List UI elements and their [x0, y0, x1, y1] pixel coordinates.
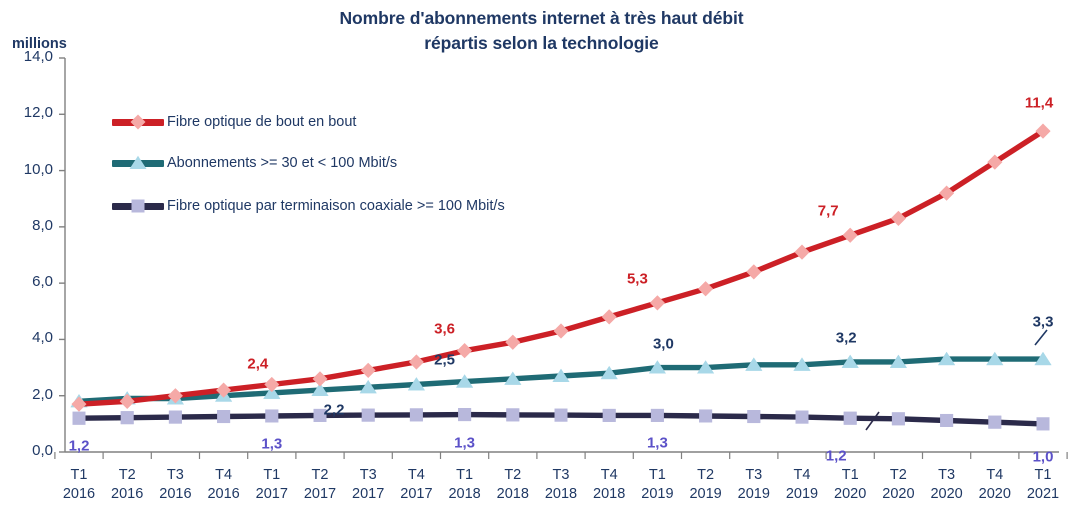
- data-point-marker: [217, 410, 230, 423]
- data-point-marker: [121, 411, 134, 424]
- data-point-marker: [843, 228, 858, 243]
- data-label: 2,4: [247, 356, 268, 373]
- data-point-marker: [602, 309, 617, 324]
- x-tick-quarter: T3: [342, 466, 394, 485]
- legend-item-1[interactable]: Fibre optique de bout en bout: [112, 114, 356, 130]
- x-axis-tick-label: T12021: [1017, 466, 1069, 504]
- data-point-marker: [603, 409, 616, 422]
- data-point-marker: [651, 409, 664, 422]
- legend-marker-diamond-icon: [128, 112, 148, 132]
- data-point-marker: [1037, 417, 1050, 430]
- x-tick-quarter: T2: [680, 466, 732, 485]
- x-tick-quarter: T3: [921, 466, 973, 485]
- x-tick-quarter: T3: [535, 466, 587, 485]
- data-point-marker: [746, 264, 761, 279]
- data-label: 3,0: [653, 335, 674, 352]
- data-label: 5,3: [627, 270, 648, 287]
- legend-item-2[interactable]: Abonnements >= 30 et < 100 Mbit/s: [112, 155, 397, 171]
- data-point-marker: [458, 408, 471, 421]
- x-tick-year: 2016: [149, 485, 201, 504]
- y-axis-tick-label: 0,0: [3, 442, 53, 459]
- x-axis-tick-label: T32020: [921, 466, 973, 504]
- x-axis-tick-label: T12017: [246, 466, 298, 504]
- y-axis-tick-label: 4,0: [3, 329, 53, 346]
- data-point-marker: [361, 363, 376, 378]
- leader-line: [1035, 330, 1047, 345]
- x-axis-tick-label: T42018: [583, 466, 635, 504]
- x-tick-quarter: T2: [487, 466, 539, 485]
- x-axis-tick-label: T12020: [824, 466, 876, 504]
- y-axis-tick-label: 14,0: [3, 48, 53, 65]
- x-axis-tick-label: T12019: [631, 466, 683, 504]
- x-axis-tick-label: T42019: [776, 466, 828, 504]
- x-tick-year: 2020: [969, 485, 1021, 504]
- legend-marker-square-icon: [128, 196, 148, 216]
- data-label: 1,3: [261, 435, 282, 452]
- x-tick-year: 2016: [53, 485, 105, 504]
- x-tick-quarter: T4: [583, 466, 635, 485]
- x-axis-tick-label: T42020: [969, 466, 1021, 504]
- x-tick-quarter: T4: [198, 466, 250, 485]
- x-tick-year: 2018: [487, 485, 539, 504]
- data-label: 1,0: [1033, 448, 1054, 465]
- x-tick-year: 2019: [776, 485, 828, 504]
- chart-container: Nombre d'abonnements internet à très hau…: [0, 0, 1083, 514]
- data-label: 1,2: [826, 448, 847, 465]
- x-tick-year: 2018: [535, 485, 587, 504]
- data-label: 2,5: [434, 351, 455, 368]
- x-tick-year: 2017: [390, 485, 442, 504]
- x-tick-quarter: T2: [101, 466, 153, 485]
- x-tick-year: 2016: [198, 485, 250, 504]
- data-point-marker: [362, 409, 375, 422]
- x-tick-quarter: T1: [1017, 466, 1069, 485]
- x-tick-year: 2019: [728, 485, 780, 504]
- x-tick-year: 2017: [246, 485, 298, 504]
- x-axis-tick-label: T22017: [294, 466, 346, 504]
- data-label: 1,3: [454, 434, 475, 451]
- data-point-marker: [892, 412, 905, 425]
- x-axis-tick-label: T12016: [53, 466, 105, 504]
- series-markers-top-3: [73, 408, 1050, 430]
- data-point-marker: [650, 295, 665, 310]
- data-point-marker: [457, 343, 472, 358]
- x-axis-tick-label: T22018: [487, 466, 539, 504]
- data-point-marker: [795, 245, 810, 260]
- data-label: 1,3: [647, 435, 668, 452]
- x-axis-tick-label: T22019: [680, 466, 732, 504]
- data-label: 1,2: [69, 438, 90, 455]
- data-point-marker: [313, 371, 328, 386]
- legend-swatch-triangle-icon: [112, 160, 164, 167]
- series-3: [73, 408, 1050, 430]
- series-2: [71, 352, 1052, 407]
- y-axis-tick-label: 12,0: [3, 104, 53, 121]
- data-point-marker: [988, 416, 1001, 429]
- x-tick-quarter: T3: [728, 466, 780, 485]
- x-tick-quarter: T1: [824, 466, 876, 485]
- x-axis-tick-label: T42016: [198, 466, 250, 504]
- data-point-marker: [796, 411, 809, 424]
- x-tick-year: 2018: [583, 485, 635, 504]
- legend-marker: [132, 200, 145, 213]
- data-point-marker: [699, 409, 712, 422]
- data-point-marker: [555, 409, 568, 422]
- data-point-marker: [698, 281, 713, 296]
- data-point-marker: [505, 335, 520, 350]
- data-point-marker: [265, 409, 278, 422]
- data-label: 11,4: [1025, 95, 1053, 112]
- data-point-marker: [169, 411, 182, 424]
- x-tick-quarter: T2: [872, 466, 924, 485]
- x-tick-quarter: T1: [439, 466, 491, 485]
- x-tick-year: 2018: [439, 485, 491, 504]
- x-tick-quarter: T4: [390, 466, 442, 485]
- legend-swatch-diamond-icon: [112, 119, 164, 126]
- x-axis-tick-label: T32019: [728, 466, 780, 504]
- legend-marker: [131, 115, 146, 130]
- x-tick-quarter: T4: [969, 466, 1021, 485]
- x-tick-year: 2020: [824, 485, 876, 504]
- y-axis-tick-label: 10,0: [3, 161, 53, 178]
- x-axis-tick-label: T42017: [390, 466, 442, 504]
- x-tick-year: 2019: [631, 485, 683, 504]
- data-point-marker: [73, 412, 86, 425]
- legend-swatch-square-icon: [112, 203, 164, 210]
- data-point-marker: [940, 414, 953, 427]
- data-label: 3,6: [434, 320, 455, 337]
- x-tick-year: 2017: [294, 485, 346, 504]
- x-tick-year: 2017: [342, 485, 394, 504]
- data-label: 7,7: [818, 203, 839, 220]
- x-tick-year: 2020: [921, 485, 973, 504]
- legend-marker-triangle-icon: [128, 153, 148, 173]
- y-axis-tick-label: 2,0: [3, 386, 53, 403]
- plot-svg: [0, 0, 1083, 514]
- data-point-marker: [264, 377, 279, 392]
- x-tick-quarter: T3: [149, 466, 201, 485]
- x-axis-tick-label: T22016: [101, 466, 153, 504]
- x-axis-tick-label: T32017: [342, 466, 394, 504]
- x-tick-quarter: T1: [631, 466, 683, 485]
- x-tick-quarter: T2: [294, 466, 346, 485]
- x-axis-tick-label: T32016: [149, 466, 201, 504]
- data-point-marker: [409, 354, 424, 369]
- data-point-marker: [844, 412, 857, 425]
- data-label: 3,2: [836, 329, 857, 346]
- x-tick-year: 2019: [680, 485, 732, 504]
- x-tick-quarter: T1: [246, 466, 298, 485]
- legend-label: Abonnements >= 30 et < 100 Mbit/s: [167, 155, 397, 171]
- x-axis-tick-label: T32018: [535, 466, 587, 504]
- x-axis-tick-label: T22020: [872, 466, 924, 504]
- legend-marker: [130, 156, 147, 169]
- data-point-marker: [747, 410, 760, 423]
- data-point-marker: [554, 323, 569, 338]
- x-tick-quarter: T1: [53, 466, 105, 485]
- data-point-marker: [410, 408, 423, 421]
- y-axis-tick-label: 8,0: [3, 217, 53, 234]
- x-tick-year: 2021: [1017, 485, 1069, 504]
- y-axis-tick-label: 6,0: [3, 273, 53, 290]
- data-label: 3,3: [1033, 314, 1054, 331]
- x-tick-quarter: T4: [776, 466, 828, 485]
- legend-label: Fibre optique par terminaison coaxiale >…: [167, 198, 505, 214]
- data-point-marker: [506, 408, 519, 421]
- x-tick-year: 2016: [101, 485, 153, 504]
- x-tick-year: 2020: [872, 485, 924, 504]
- legend-label: Fibre optique de bout en bout: [167, 114, 356, 130]
- legend-item-3[interactable]: Fibre optique par terminaison coaxiale >…: [112, 198, 505, 214]
- data-label: 2,2: [324, 402, 345, 419]
- x-axis-tick-label: T12018: [439, 466, 491, 504]
